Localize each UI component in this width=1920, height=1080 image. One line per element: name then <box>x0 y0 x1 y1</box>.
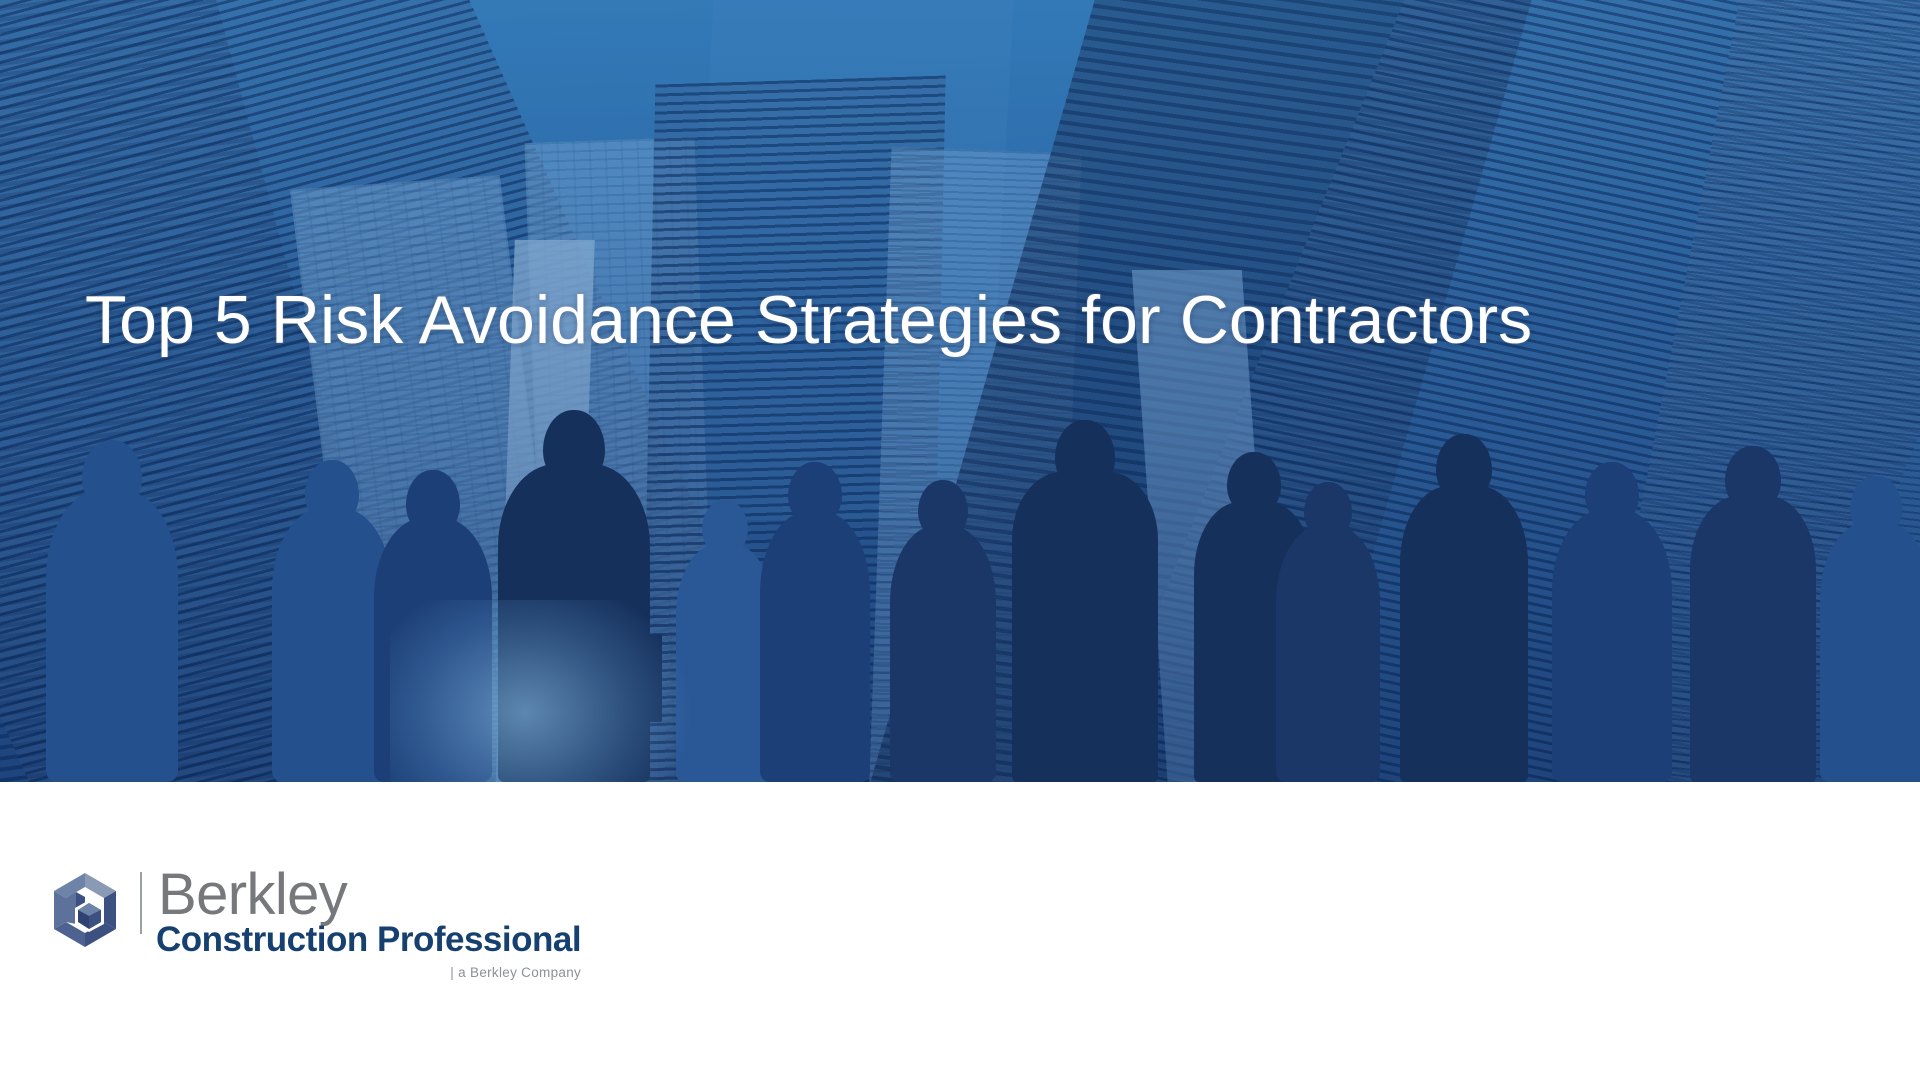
person-silhouette <box>1400 434 1528 782</box>
people-silhouettes <box>0 322 1920 782</box>
berkley-hexagon-b-mark <box>52 872 118 948</box>
person-silhouette <box>1012 420 1158 782</box>
logo-tagline: | a Berkley Company <box>158 965 581 980</box>
logo-divider <box>140 872 142 934</box>
lens-flare-glow <box>390 600 690 782</box>
presentation-slide: Top 5 Risk Avoidance Strategies for Cont… <box>0 0 1920 1080</box>
berkley-logo: Berkley Construction Professional | a Be… <box>52 866 581 980</box>
hero-image: Top 5 Risk Avoidance Strategies for Cont… <box>0 0 1920 782</box>
person-silhouette <box>46 440 178 782</box>
slide-footer: Berkley Construction Professional | a Be… <box>0 782 1920 1080</box>
person-silhouette <box>1690 446 1816 782</box>
person-silhouette <box>1820 476 1920 782</box>
slide-title: Top 5 Risk Avoidance Strategies for Cont… <box>85 282 1845 358</box>
logo-product-name: Construction Professional <box>156 922 581 957</box>
person-silhouette <box>1276 482 1380 782</box>
person-silhouette <box>890 480 996 782</box>
logo-brand-name: Berkley <box>158 866 581 924</box>
person-silhouette <box>1552 462 1672 782</box>
person-silhouette <box>760 462 870 782</box>
logo-wordmark: Berkley Construction Professional | a Be… <box>158 866 581 980</box>
